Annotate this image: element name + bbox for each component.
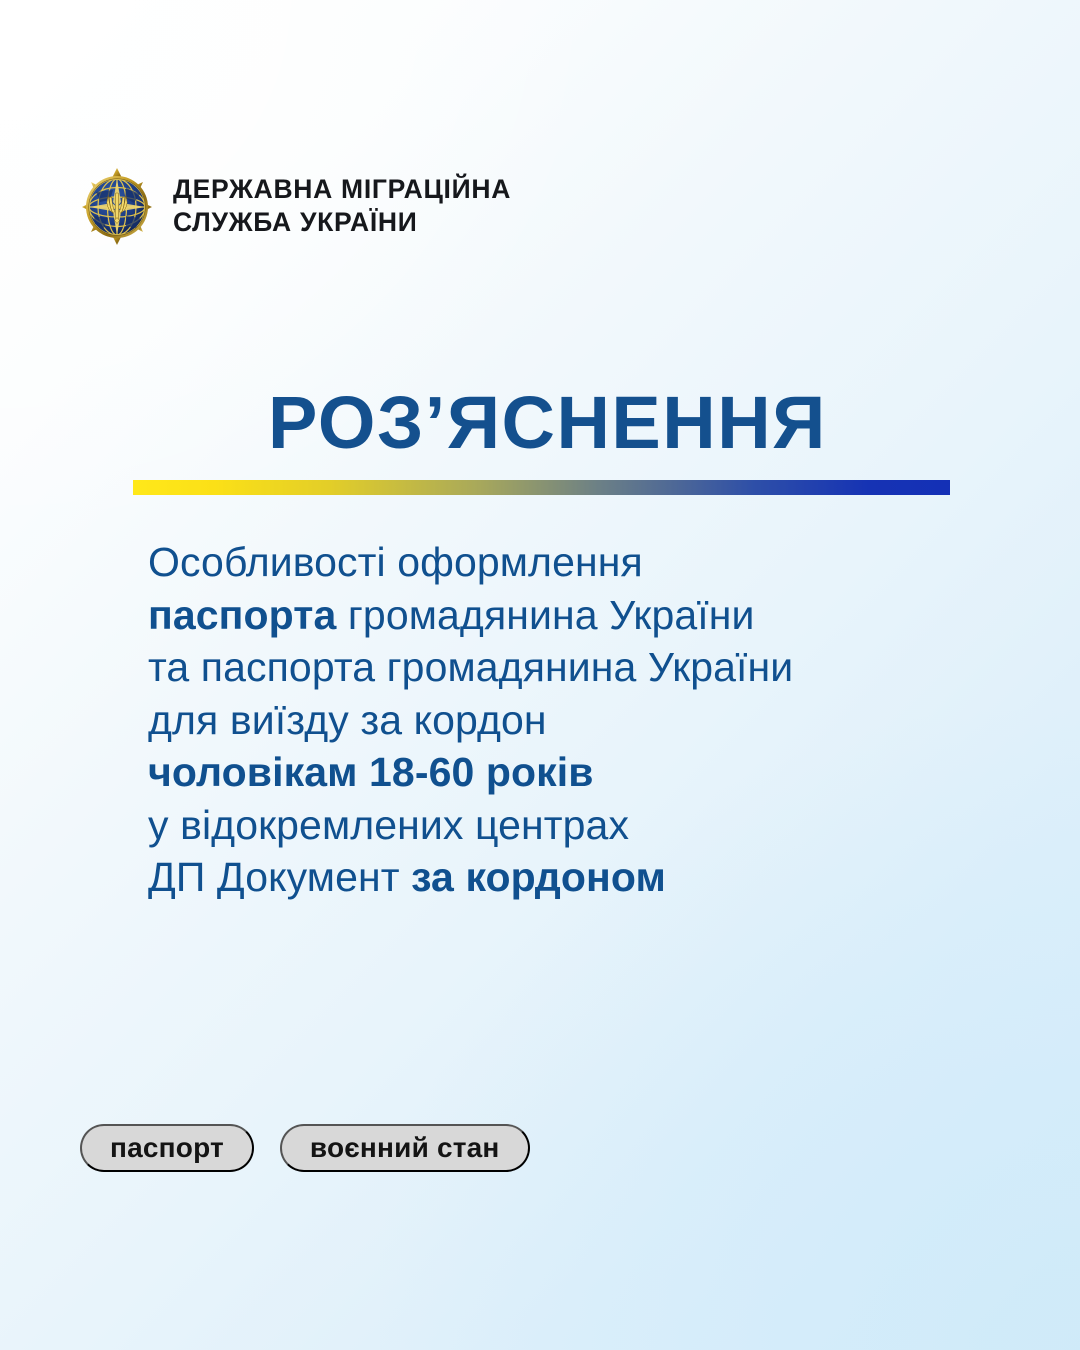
ukraine-flag-gradient-rule	[133, 480, 950, 495]
announcement-line: ДП Документ за кордоном	[148, 851, 978, 904]
tag-list: паспортвоєнний стан	[80, 1124, 530, 1172]
background-highlight-top-left	[0, 0, 620, 560]
announcement-text: громадянина України	[336, 592, 754, 638]
announcement-line: для виїзду за кордон	[148, 694, 978, 747]
announcement-emphasis: паспорта	[148, 592, 336, 638]
page-title: РОЗ’ЯСНЕННЯ	[268, 386, 827, 460]
tag-chip[interactable]: паспорт	[80, 1124, 254, 1172]
tag-chip[interactable]: воєнний стан	[280, 1124, 530, 1172]
announcement-line: чоловікам 18-60 років	[148, 746, 978, 799]
announcement-line: Особливості оформлення	[148, 536, 978, 589]
announcement-line: паспорта громадянина України	[148, 589, 978, 642]
announcement-emphasis: чоловікам 18-60 років	[148, 749, 594, 795]
announcement-text: та паспорта громадянина України	[148, 644, 793, 690]
announcement-text: у відокремлених центрах	[148, 802, 629, 848]
brand-header: ДЕРЖАВНА МІГРАЦІЙНА СЛУЖБА УКРАЇНИ	[80, 166, 511, 246]
dmsu-globe-emblem-icon	[80, 166, 154, 246]
announcement-line: у відокремлених центрах	[148, 799, 978, 852]
announcement-line: та паспорта громадянина України	[148, 641, 978, 694]
announcement-text: для виїзду за кордон	[148, 697, 547, 743]
announcement-text: ДП Документ	[148, 854, 411, 900]
organization-name: ДЕРЖАВНА МІГРАЦІЙНА СЛУЖБА УКРАЇНИ	[173, 173, 511, 240]
announcement-text: Особливості оформлення	[148, 539, 643, 585]
announcement-emphasis: за кордоном	[411, 854, 666, 900]
announcement-body: Особливості оформленняпаспорта громадяни…	[148, 536, 978, 904]
